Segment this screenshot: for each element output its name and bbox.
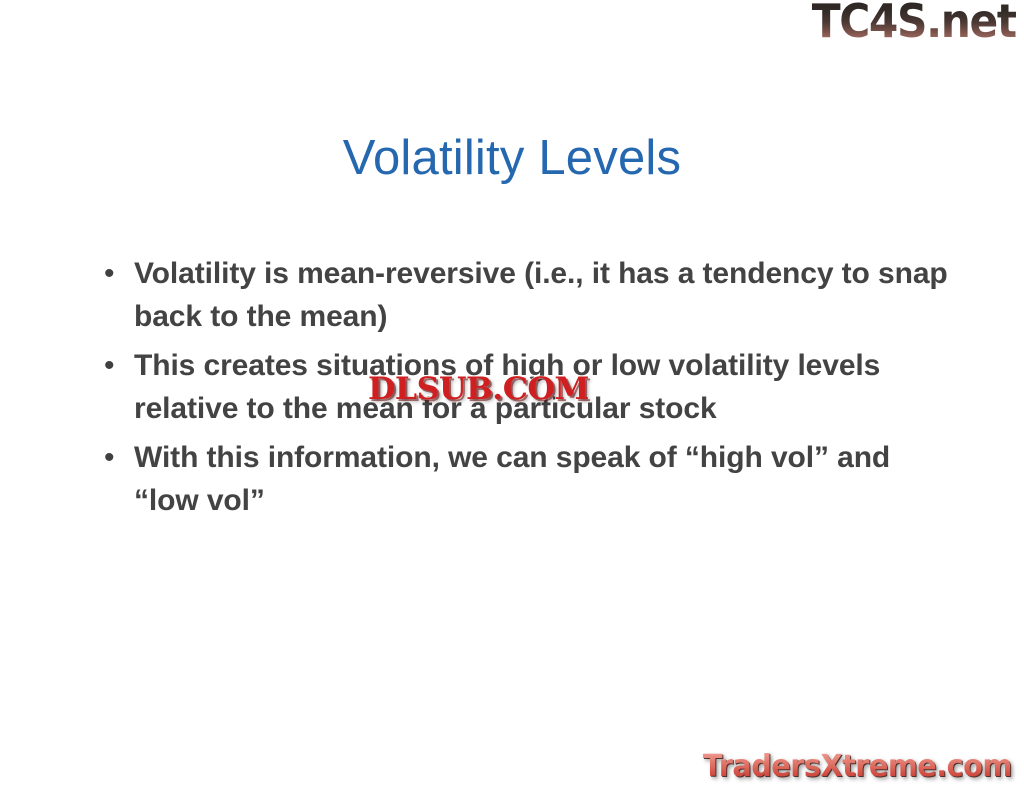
- tradersxtreme-watermark: TradersXtreme.com: [703, 749, 1012, 785]
- bullet-text: With this information, we can speak of “…: [134, 436, 952, 522]
- slide-title: Volatility Levels: [0, 132, 1024, 186]
- bullet-item: • Volatility is mean-reversive (i.e., it…: [96, 252, 952, 338]
- bullet-item: • With this information, we can speak of…: [96, 436, 952, 522]
- tc4s-watermark: TC4S.net: [812, 0, 1016, 44]
- bullet-point-icon: •: [96, 252, 134, 295]
- bullet-text: Volatility is mean-reversive (i.e., it h…: [134, 252, 952, 338]
- bullet-point-icon: •: [96, 344, 134, 387]
- presentation-slide: TC4S.net Volatility Levels • Volatility …: [0, 0, 1024, 791]
- bullet-point-icon: •: [96, 436, 134, 479]
- dlsub-watermark-text: DLSUB.COM: [368, 371, 589, 407]
- dlsub-watermark-stamp: DLSUB.COM: [368, 372, 589, 406]
